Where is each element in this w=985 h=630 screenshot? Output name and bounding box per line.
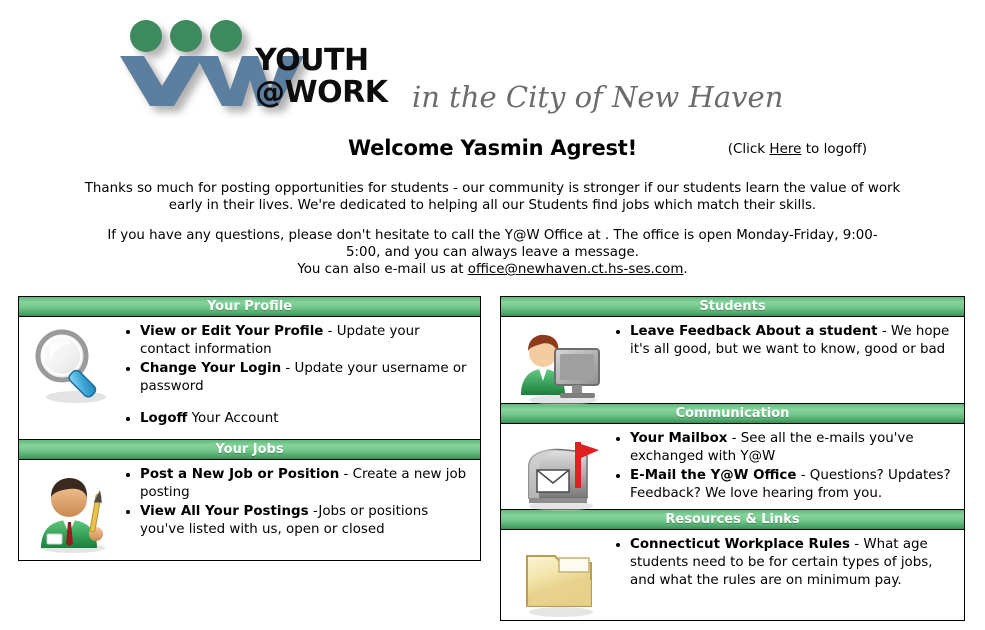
folder-icon-cell [509,536,613,618]
magnifier-icon [32,329,118,405]
employer-person-icon-cell [27,466,123,554]
list-item[interactable]: Change Your Login - Update your username… [140,360,468,396]
mailbox-icon [515,436,607,512]
mailbox-icon-cell [509,430,613,512]
intro-email-lead: You can also e-mail us at [297,262,467,277]
list-item[interactable]: Post a New Job or Position - Create a ne… [140,466,468,502]
logoff-suffix: to logoff) [801,141,867,157]
panel-your-jobs-title: Your Jobs [19,440,480,460]
list-item[interactable]: View or Edit Your Profile - Update your … [140,323,468,359]
site-header: YOUTH @WORK in the City of New Haven [0,0,985,125]
panel-communication: Communication [501,403,964,509]
intro-email-period: . [683,262,687,277]
panel-your-jobs: Your Jobs [18,440,481,561]
item-label[interactable]: Logoff [140,411,187,426]
panel-resources-links: Resources & Links [501,509,964,620]
item-label[interactable]: Connecticut Workplace Rules [630,537,850,552]
panel-your-profile-body: View or Edit Your Profile - Update your … [19,317,480,439]
logoff-link[interactable]: Here [769,141,801,157]
wordmark: YOUTH @WORK [255,46,387,108]
list-item[interactable]: Logoff Your Account [140,410,468,428]
intro-paragraph-2: If you have any questions, please don't … [93,227,893,278]
panel-your-jobs-list: Post a New Job or Position - Create a ne… [123,466,472,540]
item-label[interactable]: View or Edit Your Profile [140,324,323,339]
panel-students-list: Leave Feedback About a student - We hope… [613,323,956,360]
intro-text: Thanks so much for posting opportunities… [0,180,985,278]
item-label[interactable]: Your Mailbox [630,431,727,446]
list-item[interactable]: Your Mailbox - See all the e-mails you'v… [630,430,952,466]
welcome-row: Welcome Yasmin Agrest! (Click Here to lo… [0,136,985,166]
intro-contact-text: If you have any questions, please don't … [107,228,877,260]
folder-icon [515,542,607,618]
student-at-computer-icon [515,329,607,405]
tagline: in the City of New Haven [412,80,783,114]
right-panel-column: Students [500,296,965,621]
panel-your-profile-title: Your Profile [19,297,480,317]
list-item[interactable]: E-Mail the Y@W Office - Questions? Updat… [630,467,952,503]
logoff-note: (Click Here to logoff) [728,141,867,157]
item-label[interactable]: Post a New Job or Position [140,467,339,482]
panel-resources-links-title: Resources & Links [501,509,964,530]
item-label[interactable]: Change Your Login [140,361,281,376]
list-item[interactable]: View All Your Postings -Jobs or position… [140,503,468,539]
panel-students-title: Students [501,297,964,317]
list-item[interactable]: Connecticut Workplace Rules - What age s… [630,536,952,590]
logoff-prefix: (Click [728,141,770,157]
wordmark-line-2: @WORK [255,78,387,108]
panel-resources-links-body: Connecticut Workplace Rules - What age s… [501,530,964,620]
panel-communication-list: Your Mailbox - See all the e-mails you'v… [613,430,956,504]
item-label[interactable]: View All Your Postings [140,504,309,519]
panel-students: Students [501,297,964,403]
item-label[interactable]: Leave Feedback About a student [630,324,878,339]
panel-your-jobs-body: Post a New Job or Position - Create a ne… [19,460,480,560]
panel-your-profile-list: View or Edit Your Profile - Update your … [123,323,472,429]
panel-students-body: Leave Feedback About a student - We hope… [501,317,964,403]
item-desc: Your Account [187,411,278,426]
employer-person-icon [33,472,117,554]
list-item[interactable]: Leave Feedback About a student - We hope… [630,323,952,359]
student-at-computer-icon-cell [509,323,613,405]
left-panel-column: Your Profile [18,296,481,561]
magnifier-icon-cell [27,323,123,405]
panel-your-profile: Your Profile [18,296,481,440]
wordmark-line-1: YOUTH [255,43,369,78]
intro-paragraph-1: Thanks so much for posting opportunities… [83,180,903,214]
panel-communication-body: Your Mailbox - See all the e-mails you'v… [501,424,964,509]
panel-resources-links-list: Connecticut Workplace Rules - What age s… [613,536,956,591]
office-email-link[interactable]: office@newhaven.ct.hs-ses.com [468,262,684,277]
panel-communication-title: Communication [501,403,964,424]
item-label[interactable]: E-Mail the Y@W Office [630,468,796,483]
